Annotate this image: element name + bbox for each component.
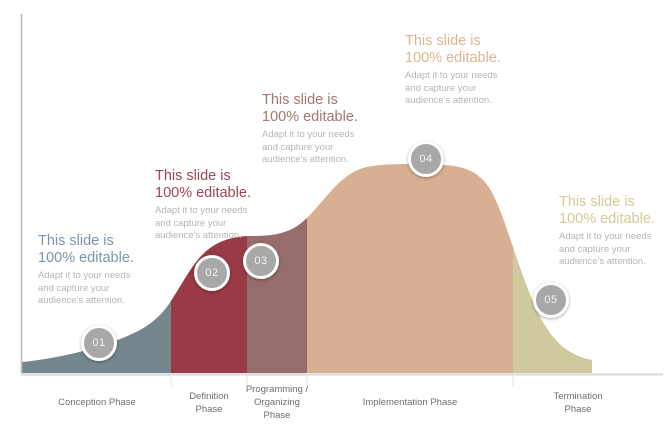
step-badge-01[interactable]: 01	[81, 325, 117, 361]
phase-band-group	[0, 0, 665, 373]
x-axis-label-programming: Programming / Organizing Phase	[245, 383, 309, 422]
x-axis-label-conception: Conception Phase	[22, 396, 172, 409]
step-badge-04[interactable]: 04	[408, 141, 444, 177]
callout-body: Adapt it to your needs and capture your …	[405, 70, 523, 108]
step-badge-label: 02	[205, 267, 218, 279]
callout-body: Adapt it to your needs and capture your …	[155, 205, 273, 243]
callout-headline: This slide is 100% editable.	[262, 92, 380, 126]
callout-headline: This slide is 100% editable.	[155, 168, 273, 202]
x-axis-label-termination: Termination Phase	[513, 390, 643, 416]
callout-body: Adapt it to your needs and capture your …	[38, 270, 156, 308]
x-axis-label-definition: Definition Phase	[171, 390, 247, 416]
phase-band-termination	[513, 0, 665, 373]
callout-conception: This slide is 100% editable. Adapt it to…	[38, 233, 156, 308]
callout-definition: This slide is 100% editable. Adapt it to…	[155, 168, 273, 243]
step-badge-label: 03	[254, 255, 267, 267]
step-badge-05[interactable]: 05	[533, 282, 569, 318]
callout-body: Adapt it to your needs and capture your …	[559, 231, 663, 269]
x-axis-label-implementation: Implementation Phase	[307, 396, 513, 409]
step-badge-label: 05	[544, 294, 557, 306]
callout-body: Adapt it to your needs and capture your …	[262, 129, 380, 167]
phase-band-conception	[0, 0, 171, 373]
callout-implementation: This slide is 100% editable. Adapt it to…	[405, 33, 523, 108]
callout-headline: This slide is 100% editable.	[405, 33, 523, 67]
callout-programming: This slide is 100% editable. Adapt it to…	[262, 92, 380, 167]
callout-headline: This slide is 100% editable.	[38, 233, 156, 267]
callout-termination: This slide is 100% editable. Adapt it to…	[559, 194, 663, 269]
step-badge-label: 01	[92, 337, 105, 349]
step-badge-02[interactable]: 02	[194, 255, 230, 291]
step-badge-label: 04	[419, 153, 432, 165]
step-badge-03[interactable]: 03	[243, 243, 279, 279]
callout-headline: This slide is 100% editable.	[559, 194, 663, 228]
project-phase-curve-slide: This slide is 100% editable. Adapt it to…	[0, 0, 665, 430]
